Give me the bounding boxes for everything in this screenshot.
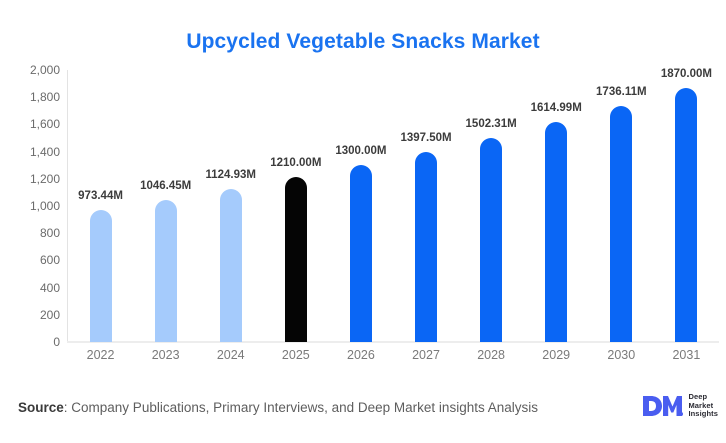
x-axis-tick: 2027 xyxy=(393,348,458,362)
chart-card: Upcycled Vegetable Snacks Market 2,0001,… xyxy=(0,0,726,443)
y-axis-tick: 400 xyxy=(8,281,60,295)
y-axis-tick: 200 xyxy=(8,308,60,322)
y-axis-tick: 1,400 xyxy=(8,145,60,159)
bar-slot: 1397.50M xyxy=(393,62,458,342)
bar-value-label: 1124.93M xyxy=(205,169,256,181)
brand-logo: Deep Market Insights xyxy=(641,393,718,419)
y-axis-tick: 0 xyxy=(8,335,60,349)
x-axis-tick: 2031 xyxy=(654,348,719,362)
bar-value-label: 1046.45M xyxy=(140,180,191,192)
chart-footer: Source: Company Publications, Primary In… xyxy=(0,383,726,443)
bar-slot: 1870.00M xyxy=(654,62,719,342)
bar-value-label: 1614.99M xyxy=(531,102,582,114)
x-axis-tick: 2029 xyxy=(524,348,589,362)
bar-2027[interactable] xyxy=(415,152,437,342)
y-axis-tick: 1,800 xyxy=(8,90,60,104)
bar-2024[interactable] xyxy=(220,189,242,342)
bar-2029[interactable] xyxy=(545,122,567,342)
bar-value-label: 1210.00M xyxy=(270,157,321,169)
x-axis-tick: 2022 xyxy=(68,348,133,362)
bar-slot: 1736.11M xyxy=(589,62,654,342)
y-axis-tick: 1,200 xyxy=(8,172,60,186)
source-note: Source: Company Publications, Primary In… xyxy=(18,400,538,415)
y-axis-tick: 1,000 xyxy=(8,199,60,213)
plot-area: 2,0001,8001,6001,4001,2001,0008006004002… xyxy=(0,62,726,362)
bar-2030[interactable] xyxy=(610,106,632,342)
bar-slot: 1210.00M xyxy=(263,62,328,342)
bar-slot: 1046.45M xyxy=(133,62,198,342)
bar-slot: 1614.99M xyxy=(524,62,589,342)
bar-value-label: 1502.31M xyxy=(466,118,517,130)
x-axis-tick: 2030 xyxy=(589,348,654,362)
bar-value-label: 973.44M xyxy=(78,190,123,202)
bar-2025[interactable] xyxy=(285,177,307,342)
y-axis-tick: 1,600 xyxy=(8,117,60,131)
brand-line-3: Insights xyxy=(688,410,718,419)
chart-title: Upcycled Vegetable Snacks Market xyxy=(0,30,726,54)
source-body: : Company Publications, Primary Intervie… xyxy=(64,400,538,415)
bar-value-label: 1397.50M xyxy=(400,132,451,144)
bar-2023[interactable] xyxy=(155,200,177,342)
y-axis-tick: 2,000 xyxy=(8,63,60,77)
brand-logo-text: Deep Market Insights xyxy=(688,393,718,419)
y-axis: 2,0001,8001,6001,4001,2001,0008006004002… xyxy=(8,62,60,342)
bar-value-label: 1300.00M xyxy=(335,145,386,157)
x-axis: 2022202320242025202620272028202920302031 xyxy=(68,348,719,362)
bar-2028[interactable] xyxy=(480,138,502,342)
bar-slot: 973.44M xyxy=(68,62,133,342)
source-keyword: Source xyxy=(18,400,64,415)
bar-slot: 1124.93M xyxy=(198,62,263,342)
bar-2026[interactable] xyxy=(350,165,372,342)
y-axis-tick: 600 xyxy=(8,253,60,267)
x-axis-tick: 2026 xyxy=(328,348,393,362)
x-axis-tick: 2024 xyxy=(198,348,263,362)
bar-2022[interactable] xyxy=(90,210,112,342)
bar-series: 973.44M1046.45M1124.93M1210.00M1300.00M1… xyxy=(68,62,719,342)
y-axis-tick: 800 xyxy=(8,226,60,240)
bar-slot: 1300.00M xyxy=(328,62,393,342)
x-axis-tick: 2023 xyxy=(133,348,198,362)
bar-value-label: 1870.00M xyxy=(661,68,712,80)
x-axis-tick: 2028 xyxy=(459,348,524,362)
bar-2031[interactable] xyxy=(675,88,697,342)
bar-slot: 1502.31M xyxy=(459,62,524,342)
x-axis-tick: 2025 xyxy=(263,348,328,362)
bar-value-label: 1736.11M xyxy=(596,86,647,98)
dm-monogram-icon xyxy=(641,394,683,418)
